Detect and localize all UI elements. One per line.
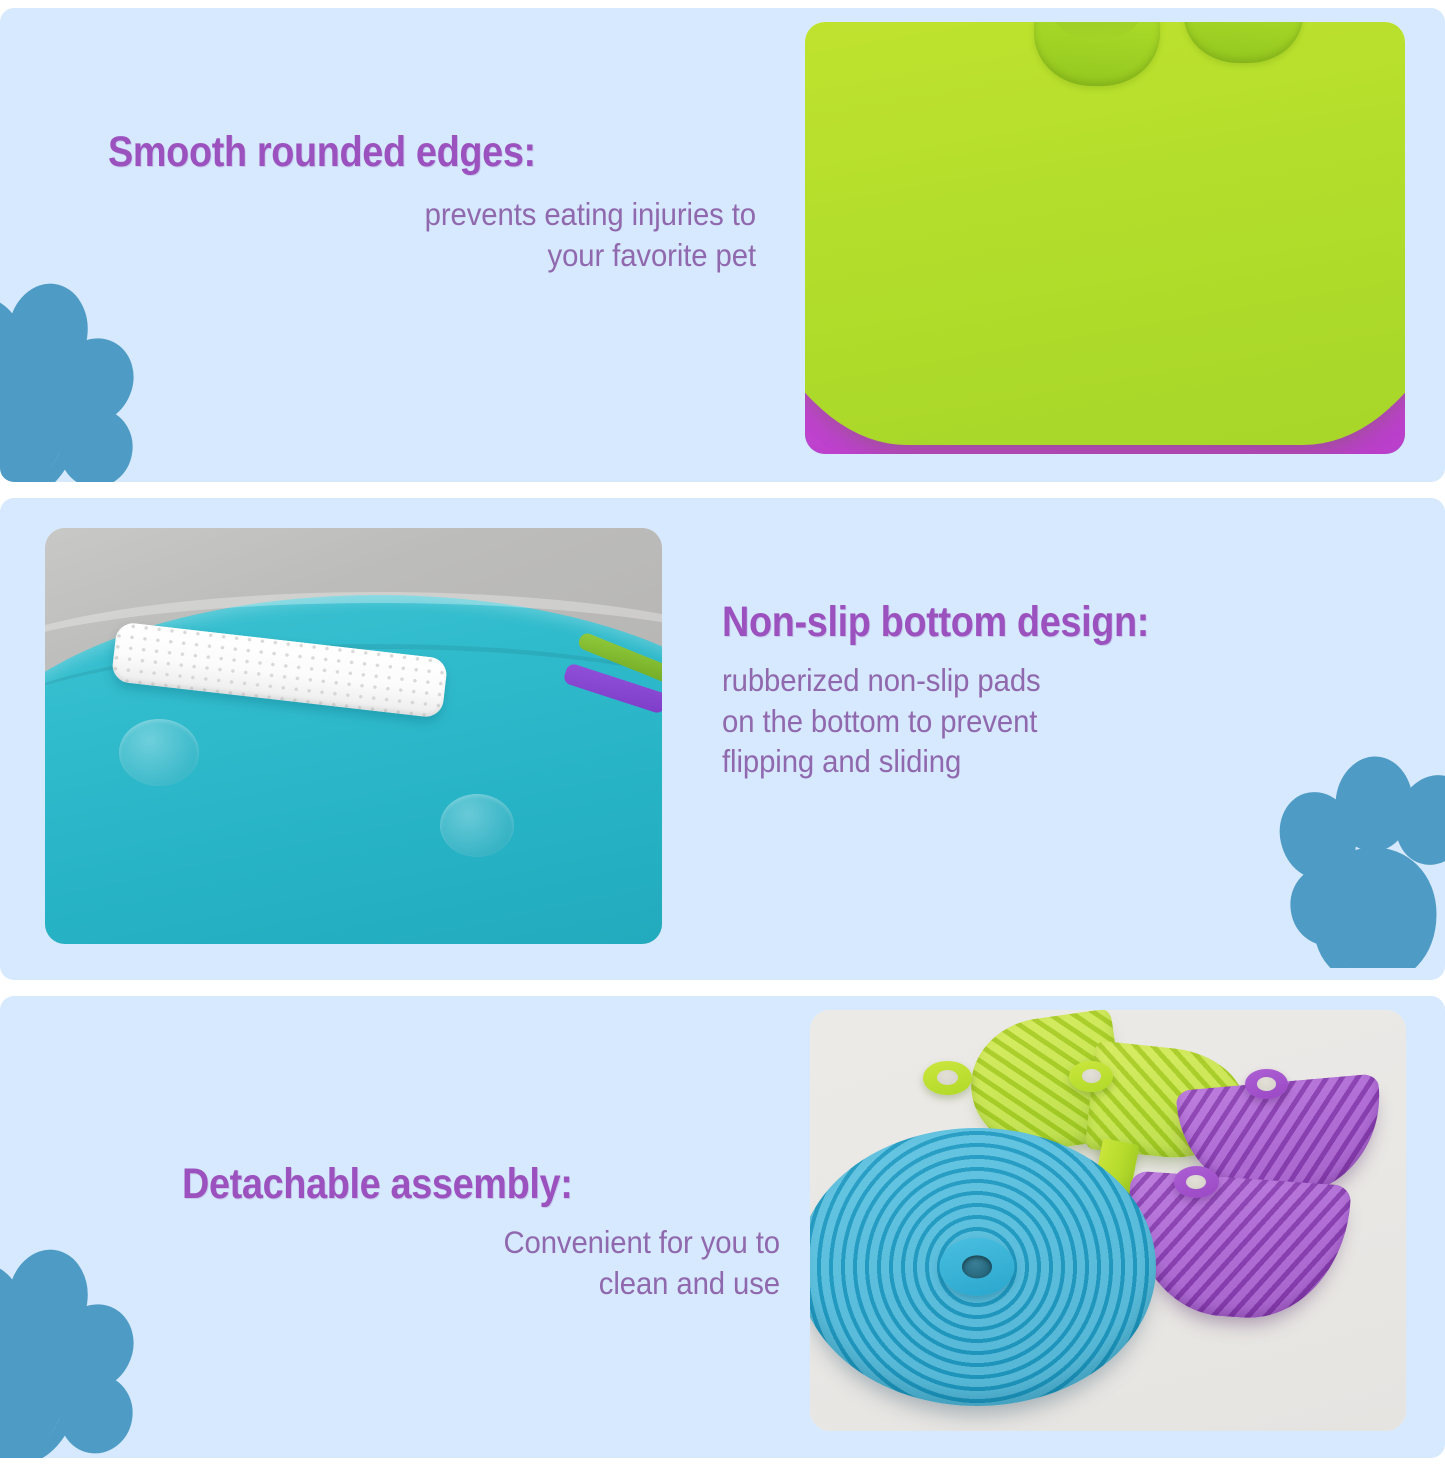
- description-line: clean and use: [224, 1263, 780, 1304]
- paw-print-icon: [0, 276, 172, 482]
- description-line: flipping and sliding: [722, 741, 1336, 782]
- bowl-layer-green: [805, 22, 1405, 445]
- description-line: prevents eating injuries to: [153, 194, 756, 235]
- feature-description: Convenient for you to clean and use: [224, 1222, 780, 1304]
- photo-canvas: [805, 22, 1405, 454]
- feature-heading: Smooth rounded edges:: [108, 130, 680, 176]
- purple-tab-ring: [1174, 1166, 1219, 1198]
- product-photo-bowl-rim-stack: [805, 22, 1405, 454]
- feature-description: prevents eating injuries to your favorit…: [153, 194, 756, 276]
- green-tab-ring: [1069, 1061, 1113, 1092]
- feature-heading: Non-slip bottom design:: [722, 600, 1303, 646]
- photo-canvas: [810, 1010, 1406, 1431]
- product-photo-non-slip-pad: [45, 528, 662, 944]
- description-line: on the bottom to prevent: [722, 701, 1336, 742]
- feeder-bump: [1034, 22, 1161, 86]
- paw-print-icon: [0, 1242, 172, 1458]
- paw-print-icon: [1268, 752, 1445, 968]
- purple-tab-ring: [1245, 1069, 1288, 1099]
- purple-quarter-segment: [1121, 1171, 1351, 1325]
- blue-round-base: [810, 1128, 1156, 1406]
- description-line: your favorite pet: [153, 235, 756, 276]
- feature-text-block: Smooth rounded edges: prevents eating in…: [108, 130, 758, 275]
- feature-text-block: Detachable assembly: Convenient for you …: [182, 1162, 782, 1303]
- description-line: rubberized non-slip pads: [722, 660, 1336, 701]
- feature-heading: Detachable assembly:: [182, 1162, 710, 1208]
- green-tab-ring: [923, 1061, 972, 1096]
- product-feature-infographic: Smooth rounded edges: prevents eating in…: [0, 0, 1445, 1466]
- feeder-bump: [1184, 22, 1303, 63]
- photo-canvas: [45, 528, 662, 944]
- molding-nub: [119, 719, 199, 786]
- molding-nub: [440, 794, 514, 856]
- feature-description: rubberized non-slip pads on the bottom t…: [722, 660, 1336, 783]
- product-photo-detached-parts: [810, 1010, 1406, 1431]
- feature-panel-smooth-rounded-edges: Smooth rounded edges: prevents eating in…: [0, 8, 1445, 482]
- description-line: Convenient for you to: [224, 1222, 780, 1263]
